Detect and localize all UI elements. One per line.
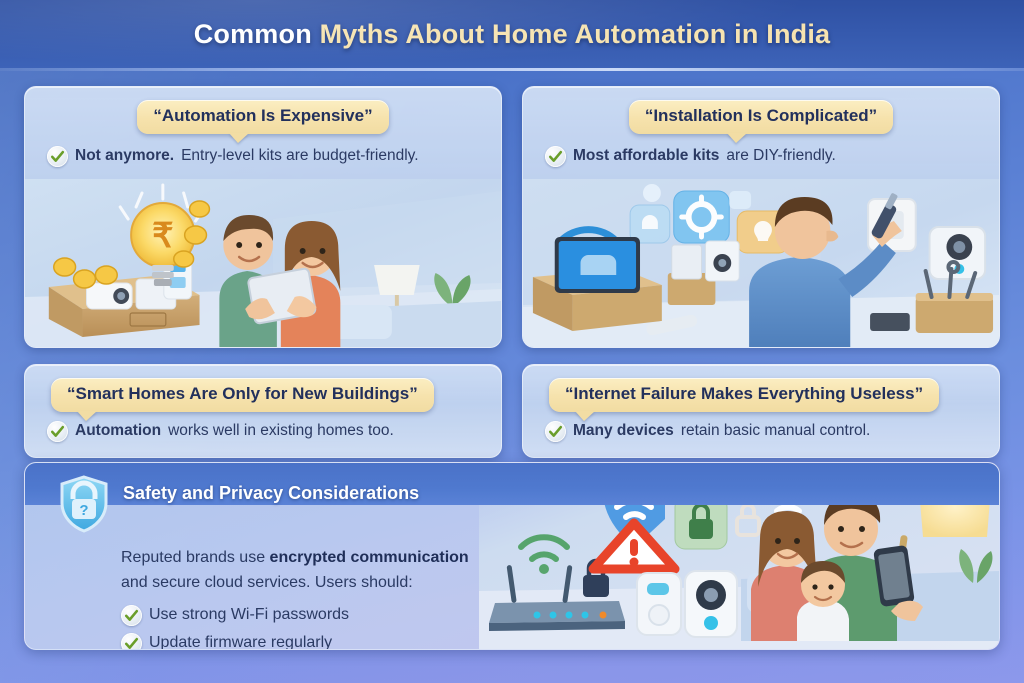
myth-bubble-container: “Automation Is Expensive” xyxy=(25,87,501,134)
paragraph-bold: encrypted communication xyxy=(270,549,469,566)
header-divider xyxy=(0,68,1024,71)
paragraph-end: and secure cloud services. Users should: xyxy=(121,574,413,591)
fact-line: Automation works well in existing homes … xyxy=(25,412,501,442)
myth-cards-top-row: ₹ xyxy=(24,86,1000,348)
fact-bold-text: Not anymore. xyxy=(75,147,174,165)
safety-panel-content: ? Safety and Privacy Considerations Repu… xyxy=(25,463,999,649)
safety-panel-body: Reputed brands use encrypted communicati… xyxy=(121,546,999,650)
safety-paragraph: Reputed brands use encrypted communicati… xyxy=(121,546,999,596)
safety-bullet-list: Use strong Wi-Fi passwords Update firmwa… xyxy=(121,605,999,650)
fact-line: Most affordable kits are DIY-friendly. xyxy=(523,134,999,167)
header-bar: Common Myths About Home Automation in In… xyxy=(0,0,1024,68)
check-circle-icon xyxy=(47,421,68,442)
myth-bubble-text: “Automation Is Expensive” xyxy=(137,100,388,134)
myth-cards-middle-row: “Smart Homes Are Only for New Buildings”… xyxy=(24,364,1000,458)
safety-panel-header: ? Safety and Privacy Considerations xyxy=(59,473,999,538)
fact-rest-text: are DIY-friendly. xyxy=(726,147,835,165)
check-circle-icon xyxy=(121,605,142,626)
check-circle-icon xyxy=(47,146,68,167)
check-circle-icon xyxy=(545,421,566,442)
check-circle-icon xyxy=(545,146,566,167)
svg-text:₹: ₹ xyxy=(152,217,173,255)
safety-privacy-panel[interactable]: ? Safety and Privacy Considerations Repu… xyxy=(24,462,1000,650)
myth-bubble-container: “Smart Homes Are Only for New Buildings” xyxy=(25,365,501,412)
fact-bold-text: Automation xyxy=(75,422,161,440)
fact-line: Many devices retain basic manual control… xyxy=(523,412,999,442)
myth-bubble-text: “Installation Is Complicated” xyxy=(629,100,893,134)
myth-bubble-container: “Installation Is Complicated” xyxy=(523,87,999,134)
list-item: Use strong Wi-Fi passwords xyxy=(121,605,999,626)
myth-bubble-text: “Smart Homes Are Only for New Buildings” xyxy=(51,378,434,412)
shield-lock-question-icon: ? xyxy=(59,475,109,538)
myth-bubble-container: “Internet Failure Makes Everything Usele… xyxy=(523,365,999,412)
list-item-label: Use strong Wi-Fi passwords xyxy=(149,606,349,624)
fact-bold-text: Most affordable kits xyxy=(573,147,719,165)
safety-panel-title: Safety and Privacy Considerations xyxy=(123,483,419,504)
page-title-part2: Myths About Home Automation in India xyxy=(320,19,831,49)
paragraph-start: Reputed brands use xyxy=(121,549,270,566)
myth-card-internet-failure[interactable]: “Internet Failure Makes Everything Usele… xyxy=(522,364,1000,458)
fact-rest-text: retain basic manual control. xyxy=(681,422,871,440)
myth-bubble-text: “Internet Failure Makes Everything Usele… xyxy=(549,378,939,412)
myth-card-installation[interactable]: “Installation Is Complicated” Most affor… xyxy=(522,86,1000,348)
fact-bold-text: Many devices xyxy=(573,422,674,440)
fact-line: Not anymore. Entry-level kits are budget… xyxy=(25,134,501,167)
myth-card-new-buildings[interactable]: “Smart Homes Are Only for New Buildings”… xyxy=(24,364,502,458)
list-item-label: Update firmware regularly xyxy=(149,634,332,650)
fact-rest-text: Entry-level kits are budget-friendly. xyxy=(181,147,418,165)
check-circle-icon xyxy=(121,633,142,650)
illustration-couple-tablet: ₹ xyxy=(25,179,501,347)
illustration-man-installing-switch xyxy=(523,179,999,347)
list-item: Update firmware regularly xyxy=(121,633,999,650)
myth-card-expensive[interactable]: ₹ xyxy=(24,86,502,348)
svg-text:?: ? xyxy=(79,502,88,519)
page-title: Common Myths About Home Automation in In… xyxy=(194,19,831,50)
fact-rest-text: works well in existing homes too. xyxy=(168,422,394,440)
infographic-poster: Common Myths About Home Automation in In… xyxy=(0,0,1024,683)
page-title-part1: Common xyxy=(194,19,312,49)
